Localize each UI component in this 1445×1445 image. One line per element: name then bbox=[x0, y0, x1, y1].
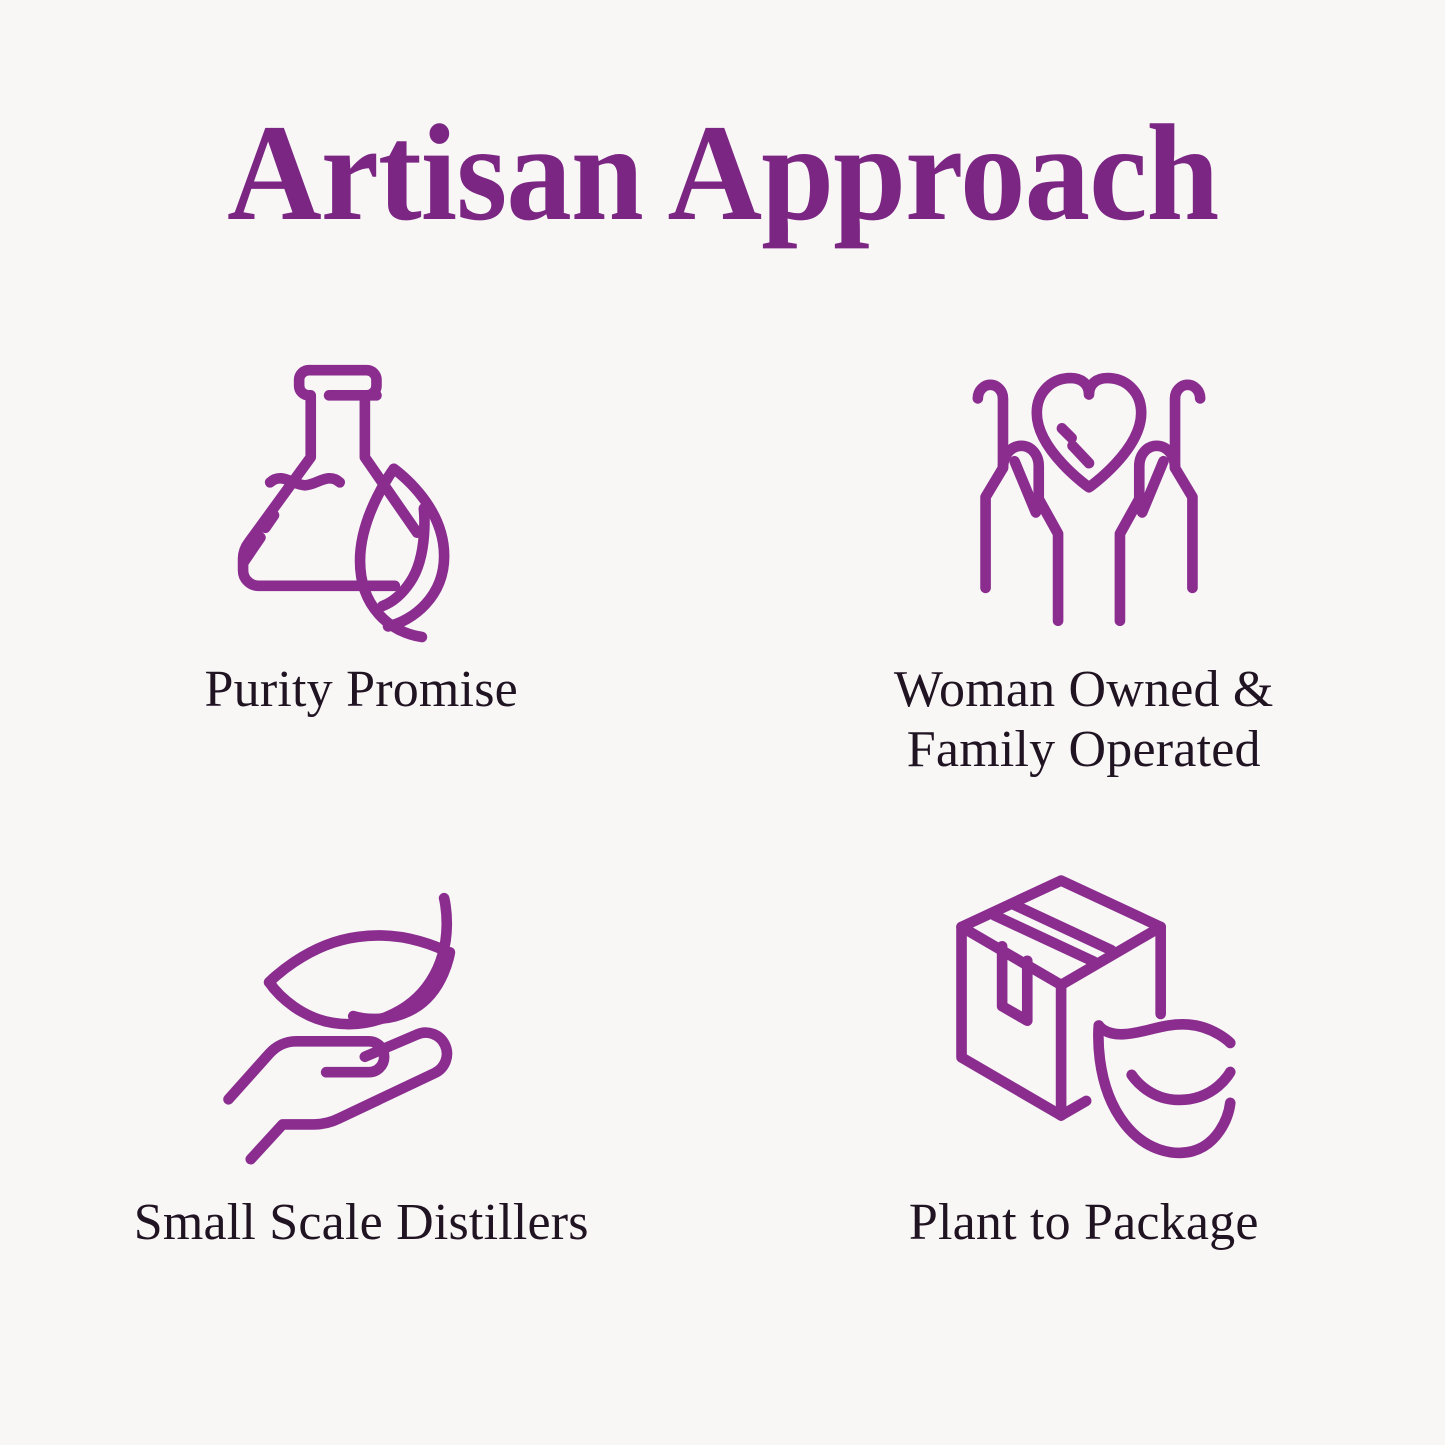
hands-holding-heart-icon bbox=[939, 352, 1239, 642]
feature-label: Small Scale Distillers bbox=[134, 1193, 589, 1253]
feature-purity-promise: Purity Promise bbox=[0, 330, 723, 845]
feature-label: Plant to Package bbox=[909, 1193, 1259, 1253]
artisan-approach-panel: Artisan Approach bbox=[0, 0, 1445, 1445]
feature-small-scale-distillers: Small Scale Distillers bbox=[0, 845, 723, 1360]
feature-plant-to-package: Plant to Package bbox=[723, 845, 1445, 1360]
flask-leaf-icon bbox=[211, 348, 511, 638]
hand-holding-leaf-icon bbox=[210, 875, 510, 1165]
page-title: Artisan Approach bbox=[227, 104, 1218, 242]
box-leaf-icon bbox=[943, 867, 1243, 1157]
feature-grid: Purity Promise bbox=[0, 330, 1445, 1360]
feature-woman-owned-family-operated: Woman Owned & Family Operated bbox=[723, 330, 1445, 845]
feature-label: Woman Owned & Family Operated bbox=[894, 660, 1274, 781]
feature-label: Purity Promise bbox=[205, 660, 518, 720]
page-title-container: Artisan Approach bbox=[0, 104, 1445, 242]
